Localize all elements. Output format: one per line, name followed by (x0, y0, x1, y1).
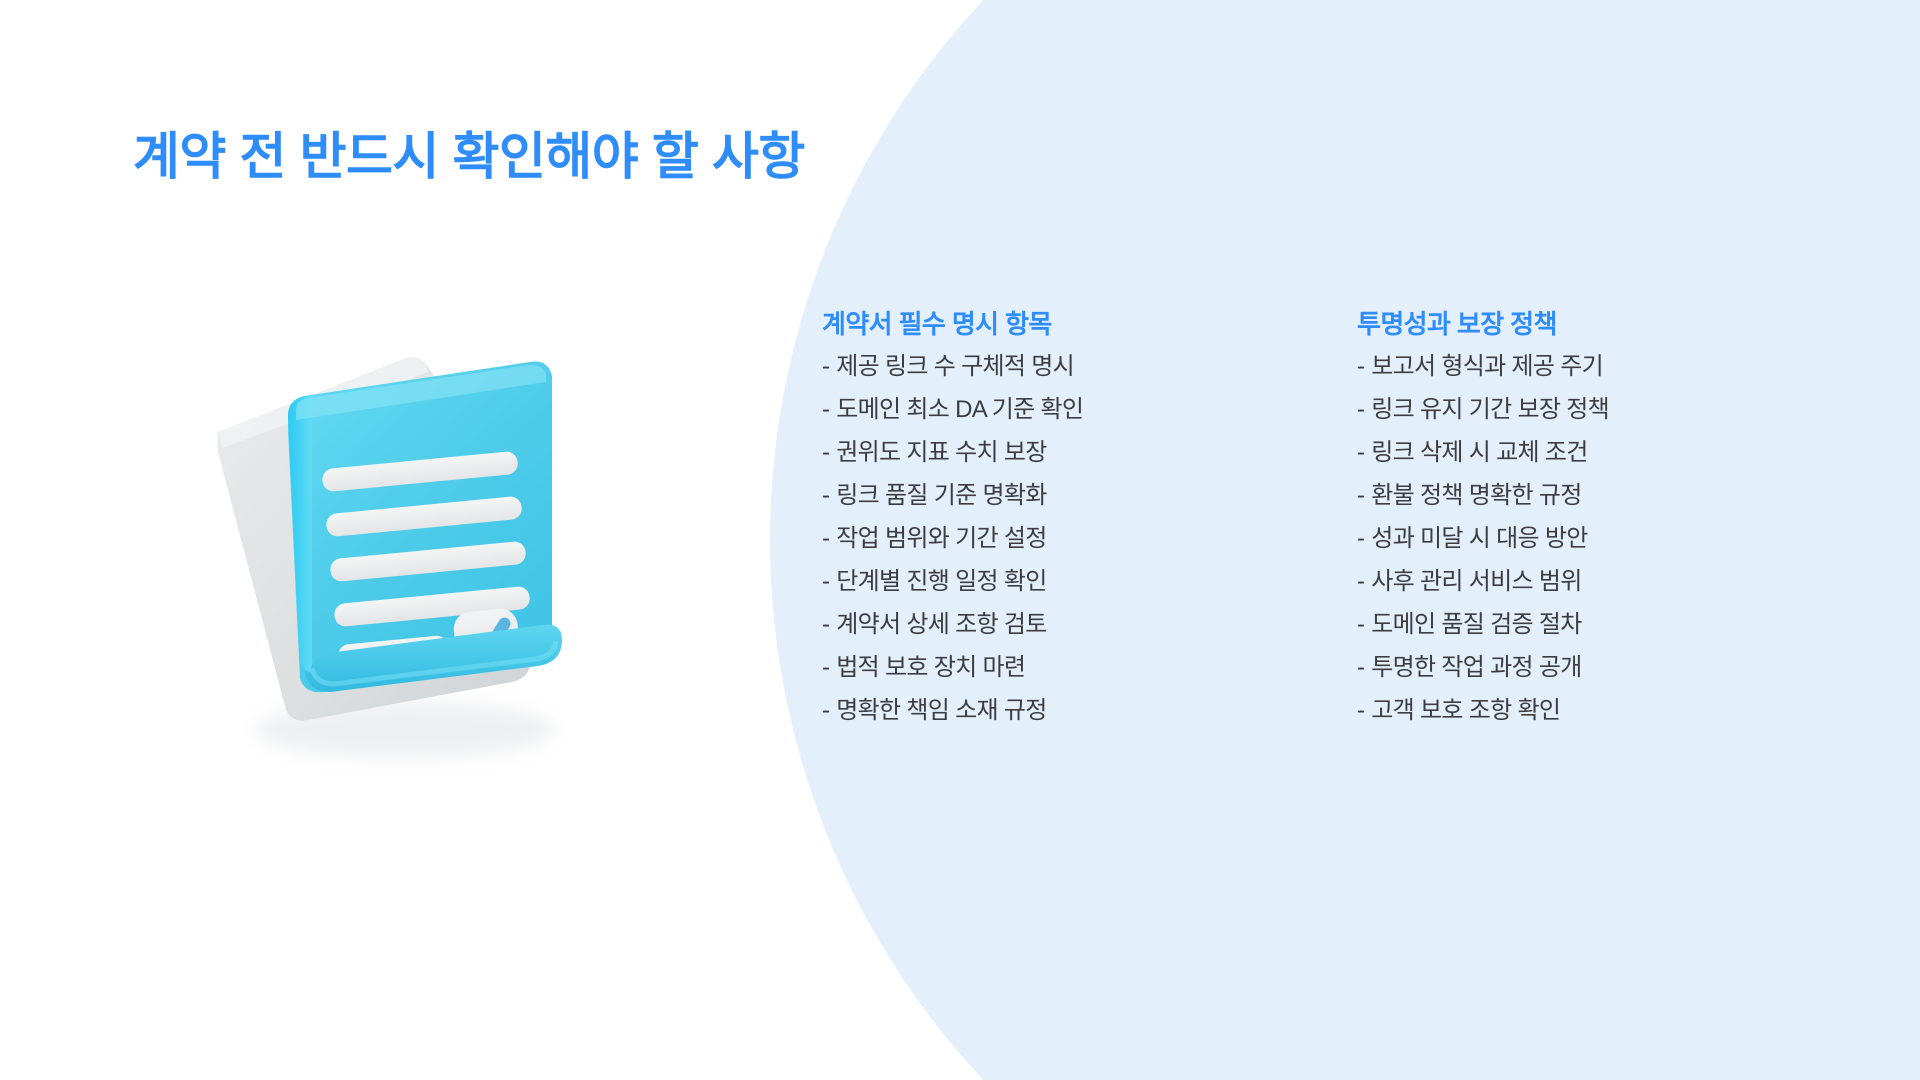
list-item-label: 명확한 책임 소재 규정 (836, 699, 1046, 723)
list-item: -작업 범위와 기간 설정 (822, 527, 1083, 551)
checklist-document-illustration (200, 300, 620, 770)
list-item-label: 보고서 형식과 제공 주기 (1371, 355, 1603, 379)
list-item: -제공 링크 수 구체적 명시 (822, 355, 1083, 379)
bullet-dash: - (1357, 699, 1364, 723)
column-heading: 계약서 필수 명시 항목 (822, 308, 1083, 341)
bullet-dash: - (822, 570, 829, 594)
list-item: -도메인 품질 검증 절차 (1357, 613, 1609, 637)
list-item-label: 작업 범위와 기간 설정 (836, 527, 1046, 551)
page-title: 계약 전 반드시 확인해야 할 사항 (133, 126, 805, 187)
bullet-dash: - (1357, 441, 1364, 465)
list-item-label: 도메인 품질 검증 절차 (1371, 613, 1581, 637)
list-item: -고객 보호 조항 확인 (1357, 699, 1609, 723)
bullet-dash: - (822, 355, 829, 379)
bullet-dash: - (1357, 527, 1364, 551)
checklist-transparency-guarantee-policy: -보고서 형식과 제공 주기 -링크 유지 기간 보장 정책 -링크 삭제 시 … (1357, 355, 1609, 723)
column-transparency-guarantee-policy: 투명성과 보장 정책 -보고서 형식과 제공 주기 -링크 유지 기간 보장 정… (1357, 308, 1609, 742)
list-item: -사후 관리 서비스 범위 (1357, 570, 1609, 594)
list-item-label: 투명한 작업 과정 공개 (1371, 656, 1581, 680)
list-item: -권위도 지표 수치 보장 (822, 441, 1083, 465)
list-item: -투명한 작업 과정 공개 (1357, 656, 1609, 680)
list-item-label: 제공 링크 수 구체적 명시 (836, 355, 1074, 379)
checklist-contract-required-items: -제공 링크 수 구체적 명시 -도메인 최소 DA 기준 확인 -권위도 지표… (822, 355, 1083, 723)
bullet-dash: - (1357, 355, 1364, 379)
bullet-dash: - (1357, 613, 1364, 637)
front-document (288, 362, 562, 693)
list-item-label: 권위도 지표 수치 보장 (836, 441, 1046, 465)
bullet-dash: - (822, 441, 829, 465)
list-item: -명확한 책임 소재 규정 (822, 699, 1083, 723)
list-item-label: 링크 품질 기준 명확화 (836, 484, 1046, 508)
list-item: -성과 미달 시 대응 방안 (1357, 527, 1609, 551)
bullet-dash: - (822, 699, 829, 723)
column-contract-required-items: 계약서 필수 명시 항목 -제공 링크 수 구체적 명시 -도메인 최소 DA … (822, 308, 1083, 742)
list-item: -도메인 최소 DA 기준 확인 (822, 398, 1083, 422)
list-item: -계약서 상세 조항 검토 (822, 613, 1083, 637)
list-item-label: 계약서 상세 조항 검토 (836, 613, 1046, 637)
list-item: -법적 보호 장치 마련 (822, 656, 1083, 680)
list-item-label: 단계별 진행 일정 확인 (836, 570, 1046, 594)
list-item: -링크 삭제 시 교체 조건 (1357, 441, 1609, 465)
column-heading: 투명성과 보장 정책 (1357, 308, 1609, 341)
list-item: -링크 품질 기준 명확화 (822, 484, 1083, 508)
list-item-label: 도메인 최소 DA 기준 확인 (836, 398, 1083, 422)
list-item-label: 환불 정책 명확한 규정 (1371, 484, 1581, 508)
list-item-label: 사후 관리 서비스 범위 (1371, 570, 1581, 594)
bullet-dash: - (822, 527, 829, 551)
bullet-dash: - (822, 656, 829, 680)
list-item-label: 성과 미달 시 대응 방안 (1371, 527, 1587, 551)
bullet-dash: - (1357, 570, 1364, 594)
bullet-dash: - (822, 613, 829, 637)
list-item: -보고서 형식과 제공 주기 (1357, 355, 1609, 379)
bullet-dash: - (1357, 398, 1364, 422)
list-item: -링크 유지 기간 보장 정책 (1357, 398, 1609, 422)
bullet-dash: - (1357, 656, 1364, 680)
list-item-label: 링크 유지 기간 보장 정책 (1371, 398, 1609, 422)
slide-canvas: 계약 전 반드시 확인해야 할 사항 (0, 0, 1920, 1080)
list-item: -환불 정책 명확한 규정 (1357, 484, 1609, 508)
list-item-label: 법적 보호 장치 마련 (836, 656, 1025, 680)
list-item: -단계별 진행 일정 확인 (822, 570, 1083, 594)
bullet-dash: - (822, 398, 829, 422)
list-item-label: 고객 보호 조항 확인 (1371, 699, 1560, 723)
list-item-label: 링크 삭제 시 교체 조건 (1371, 441, 1587, 465)
bullet-dash: - (1357, 484, 1364, 508)
bullet-dash: - (822, 484, 829, 508)
